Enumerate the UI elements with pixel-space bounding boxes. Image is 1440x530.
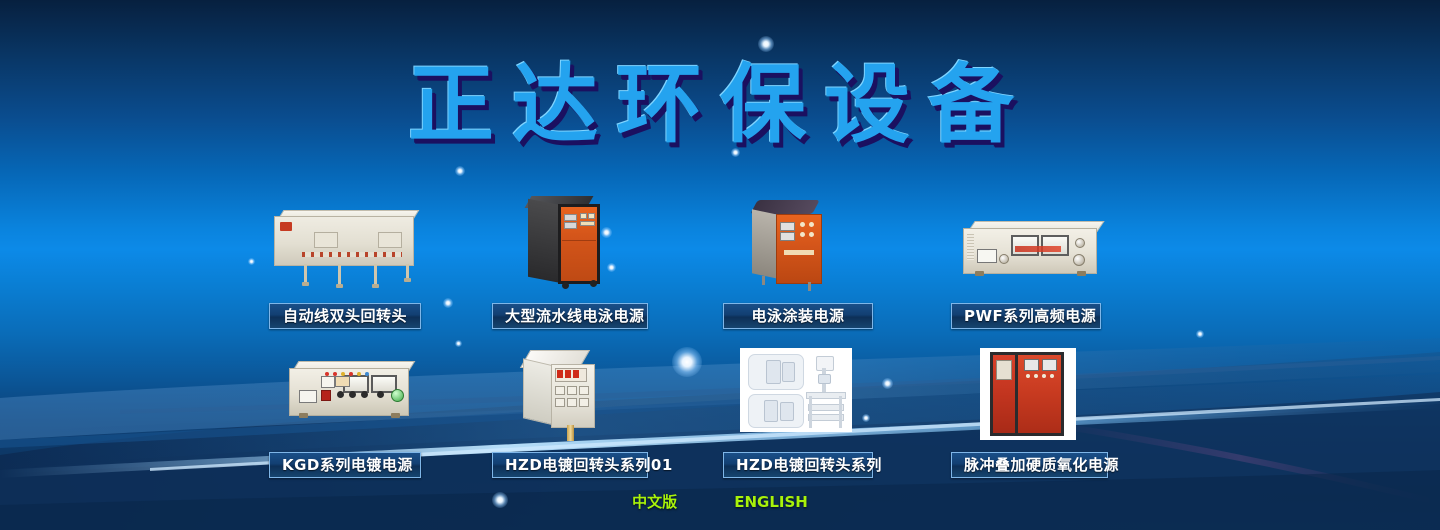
knob — [337, 391, 344, 398]
display-digit — [573, 370, 579, 378]
meter — [580, 221, 595, 226]
display-digit — [557, 370, 563, 378]
glow-dot — [758, 36, 774, 52]
cabinet-panel — [314, 232, 338, 248]
control-panel — [996, 360, 1012, 380]
display-digit — [565, 370, 571, 378]
nameplate — [335, 376, 350, 387]
product-label-4[interactable]: PWF系列高频电源 — [951, 303, 1101, 329]
led — [357, 372, 361, 376]
keypad-key — [567, 386, 577, 395]
product-label-3[interactable]: 电泳涂装电源 — [723, 303, 873, 329]
display — [321, 376, 335, 388]
keypad-key — [567, 398, 577, 407]
product-label-7[interactable]: HZD电镀回转头系列 — [723, 452, 873, 478]
brand-mark — [280, 222, 292, 231]
cabinet-leg — [338, 264, 341, 286]
cabinet-leg — [304, 264, 307, 284]
product-label-8[interactable]: 脉冲叠加硬质氧化电源 — [951, 452, 1108, 478]
glow-dot — [443, 298, 453, 308]
product-label-6[interactable]: HZD电镀回转头系列01 — [492, 452, 648, 478]
keypad-key — [555, 398, 565, 407]
keypad-key — [579, 386, 589, 395]
product-image-7[interactable] — [740, 348, 852, 432]
product-label-5[interactable]: KGD系列电镀电源 — [269, 452, 421, 478]
cabinet-leg — [374, 264, 377, 286]
meter — [564, 222, 577, 229]
glow-dot — [455, 166, 465, 176]
cabinet-panel — [378, 232, 402, 248]
product-image-1[interactable] — [266, 206, 422, 284]
banner-page: 正达环保设备 自动线双头回转头 大型流水线电泳电源 — [0, 0, 1440, 530]
knob — [361, 391, 368, 398]
led — [341, 372, 345, 376]
product-label-2[interactable]: 大型流水线电泳电源 — [492, 303, 648, 329]
nameplate-text — [1015, 246, 1061, 252]
device-detail — [764, 400, 778, 422]
keypad-key — [579, 398, 589, 407]
chassis-foot — [391, 413, 400, 418]
chassis-foot — [1077, 271, 1086, 276]
led — [325, 372, 329, 376]
chassis-foot — [299, 413, 308, 418]
product-image-8[interactable] — [980, 348, 1076, 440]
product-image-2[interactable] — [524, 196, 610, 294]
glow-dot — [672, 347, 702, 377]
cabinet-foot — [372, 284, 379, 288]
language-bar: 中文版 ENGLISH — [0, 491, 1440, 512]
glow-dot — [455, 340, 462, 347]
glow-dot — [1196, 330, 1204, 338]
glow-dot — [882, 378, 893, 389]
cabinet-leg — [808, 282, 811, 291]
caster — [562, 282, 569, 289]
page-title: 正达环保设备 — [0, 60, 1440, 150]
switch — [1050, 374, 1054, 378]
cabinet-strip — [302, 252, 402, 257]
device-detail — [766, 360, 781, 384]
switch — [1034, 374, 1038, 378]
cabinet-side — [528, 199, 562, 284]
indicator — [809, 222, 814, 227]
indicator — [809, 232, 814, 237]
drive-shaft — [567, 425, 574, 441]
vent — [967, 234, 974, 260]
product-image-3[interactable] — [748, 198, 840, 294]
product-image-6[interactable] — [519, 348, 605, 444]
cabinet-foot — [336, 284, 343, 288]
cabinet-leg — [762, 276, 765, 285]
meter — [588, 213, 595, 219]
meter — [780, 222, 795, 231]
start-button — [391, 389, 404, 402]
door-seam — [562, 240, 596, 241]
led — [349, 372, 353, 376]
meter — [580, 213, 587, 219]
device-detail — [780, 402, 794, 421]
nameplate — [784, 250, 814, 255]
knob — [1073, 254, 1085, 266]
knob — [999, 254, 1009, 264]
product-image-4[interactable] — [953, 216, 1109, 290]
gauge — [1024, 359, 1039, 371]
cabinet-foot — [404, 278, 411, 282]
glow-dot — [248, 258, 255, 265]
switch — [1042, 374, 1046, 378]
meter — [780, 232, 795, 241]
keypad-key — [555, 386, 565, 395]
indicator — [800, 222, 805, 227]
display — [977, 249, 997, 263]
indicator — [800, 232, 805, 237]
gauge — [1042, 359, 1057, 371]
emergency-button — [321, 390, 331, 401]
product-image-5[interactable] — [281, 356, 417, 432]
meter — [564, 214, 577, 221]
display — [299, 390, 317, 403]
machine-leg — [839, 396, 842, 428]
knob — [349, 391, 356, 398]
cabinet-side — [752, 209, 778, 279]
machine-fixture — [818, 374, 831, 384]
lang-link-english[interactable]: ENGLISH — [734, 493, 808, 511]
led — [365, 372, 369, 376]
device-detail — [782, 362, 795, 382]
glow-dot — [862, 414, 870, 422]
cabinet-foot — [302, 282, 309, 286]
lang-link-chinese[interactable]: 中文版 — [632, 493, 677, 511]
product-label-1[interactable]: 自动线双头回转头 — [269, 303, 421, 329]
caster — [590, 280, 597, 287]
led — [333, 372, 337, 376]
knob — [1075, 238, 1085, 248]
chassis-foot — [975, 271, 984, 276]
switch — [1026, 374, 1030, 378]
knob — [377, 391, 384, 398]
machine-leg — [809, 396, 812, 428]
